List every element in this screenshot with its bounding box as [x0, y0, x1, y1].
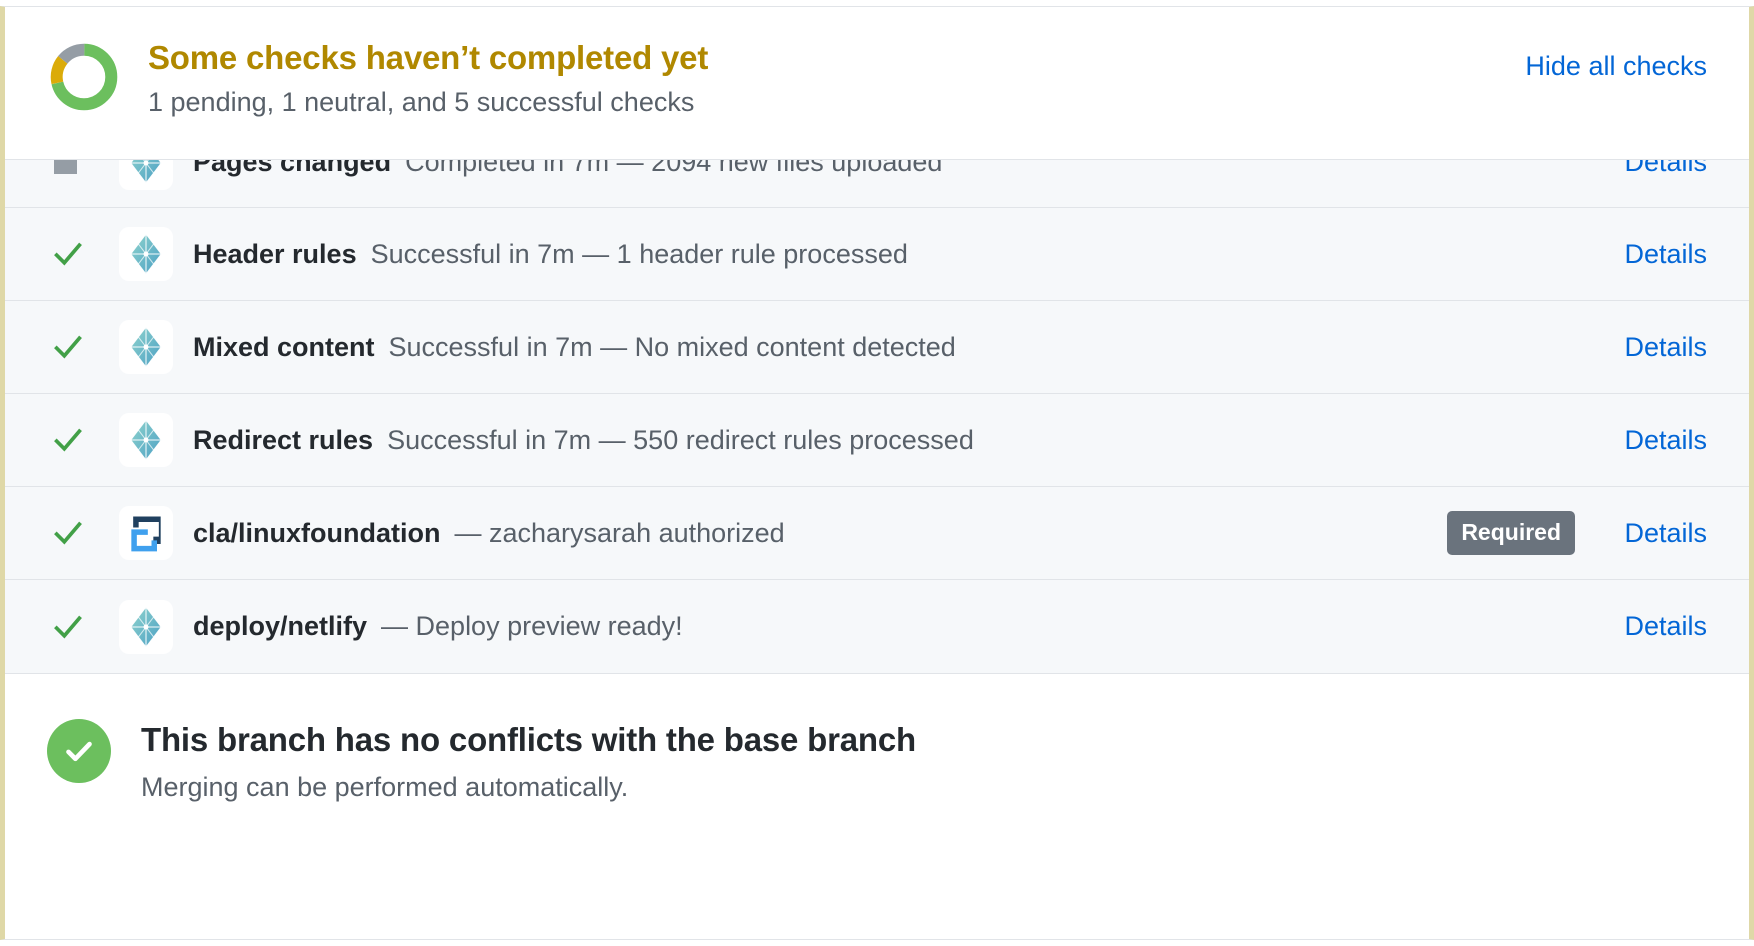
- checks-summary-title: Some checks haven’t completed yet: [148, 38, 708, 78]
- checks-summary-header: Some checks haven’t completed yet 1 pend…: [5, 7, 1749, 159]
- check-name: Redirect rules: [193, 425, 373, 456]
- neutral-square-icon: [43, 160, 99, 174]
- check-row[interactable]: Pages changedCompleted in 7m — 2094 new …: [5, 160, 1749, 208]
- check-icon: [43, 423, 99, 457]
- check-description: Completed in 7m — 2094 new files uploade…: [405, 160, 942, 178]
- details-link[interactable]: Details: [1607, 611, 1707, 642]
- merge-status-panel: Some checks haven’t completed yet 1 pend…: [0, 6, 1754, 940]
- netlify-diamond-icon: [119, 320, 173, 374]
- merge-conflict-section: This branch has no conflicts with the ba…: [5, 673, 1749, 861]
- check-row-body: Header rulesSuccessful in 7m — 1 header …: [193, 239, 1607, 270]
- checks-list: Pages changedCompleted in 7m — 2094 new …: [5, 159, 1749, 673]
- check-name: cla/linuxfoundation: [193, 518, 441, 549]
- check-row-body: Pages changedCompleted in 7m — 2094 new …: [193, 160, 1607, 178]
- details-link[interactable]: Details: [1607, 518, 1707, 549]
- check-description: — Deploy preview ready!: [381, 611, 683, 642]
- netlify-diamond-icon: [119, 413, 173, 467]
- netlify-diamond-icon: [119, 600, 173, 654]
- check-row[interactable]: Mixed contentSuccessful in 7m — No mixed…: [5, 301, 1749, 394]
- merge-status-subtitle: Merging can be performed automatically.: [141, 770, 916, 805]
- merge-status-text: This branch has no conflicts with the ba…: [141, 718, 916, 805]
- check-icon: [43, 516, 99, 550]
- details-link[interactable]: Details: [1607, 239, 1707, 270]
- linux-foundation-cla-icon: [119, 506, 173, 560]
- check-name: deploy/netlify: [193, 611, 367, 642]
- netlify-diamond-icon: [119, 227, 173, 281]
- check-row-body: deploy/netlify— Deploy preview ready!: [193, 611, 1607, 642]
- check-description: — zacharysarah authorized: [455, 518, 785, 549]
- check-icon: [43, 610, 99, 644]
- check-row[interactable]: Redirect rulesSuccessful in 7m — 550 red…: [5, 394, 1749, 487]
- netlify-diamond-icon: [119, 160, 173, 190]
- check-description: Successful in 7m — 1 header rule process…: [371, 239, 908, 270]
- details-link[interactable]: Details: [1607, 332, 1707, 363]
- pending-donut-icon: [48, 41, 120, 113]
- check-row[interactable]: deploy/netlify— Deploy preview ready!Det…: [5, 580, 1749, 673]
- check-row[interactable]: cla/linuxfoundation— zacharysarah author…: [5, 487, 1749, 580]
- merge-status-title: This branch has no conflicts with the ba…: [141, 720, 916, 760]
- check-icon: [43, 237, 99, 271]
- checks-summary-subtitle: 1 pending, 1 neutral, and 5 successful c…: [148, 85, 708, 120]
- hide-all-checks-link[interactable]: Hide all checks: [1525, 51, 1707, 82]
- check-name: Mixed content: [193, 332, 375, 363]
- check-description: Successful in 7m — No mixed content dete…: [389, 332, 956, 363]
- details-link[interactable]: Details: [1607, 425, 1707, 456]
- check-name: Pages changed: [193, 160, 391, 178]
- check-row[interactable]: Header rulesSuccessful in 7m — 1 header …: [5, 208, 1749, 301]
- check-row-body: Redirect rulesSuccessful in 7m — 550 red…: [193, 425, 1607, 456]
- check-description: Successful in 7m — 550 redirect rules pr…: [387, 425, 974, 456]
- checks-summary-text: Some checks haven’t completed yet 1 pend…: [148, 37, 708, 120]
- required-badge: Required: [1447, 511, 1575, 555]
- check-row-body: Mixed contentSuccessful in 7m — No mixed…: [193, 332, 1607, 363]
- success-circle-check-icon: [47, 719, 111, 783]
- check-row-body: cla/linuxfoundation— zacharysarah author…: [193, 518, 1447, 549]
- details-link[interactable]: Details: [1607, 160, 1707, 178]
- check-icon: [43, 330, 99, 364]
- check-name: Header rules: [193, 239, 357, 270]
